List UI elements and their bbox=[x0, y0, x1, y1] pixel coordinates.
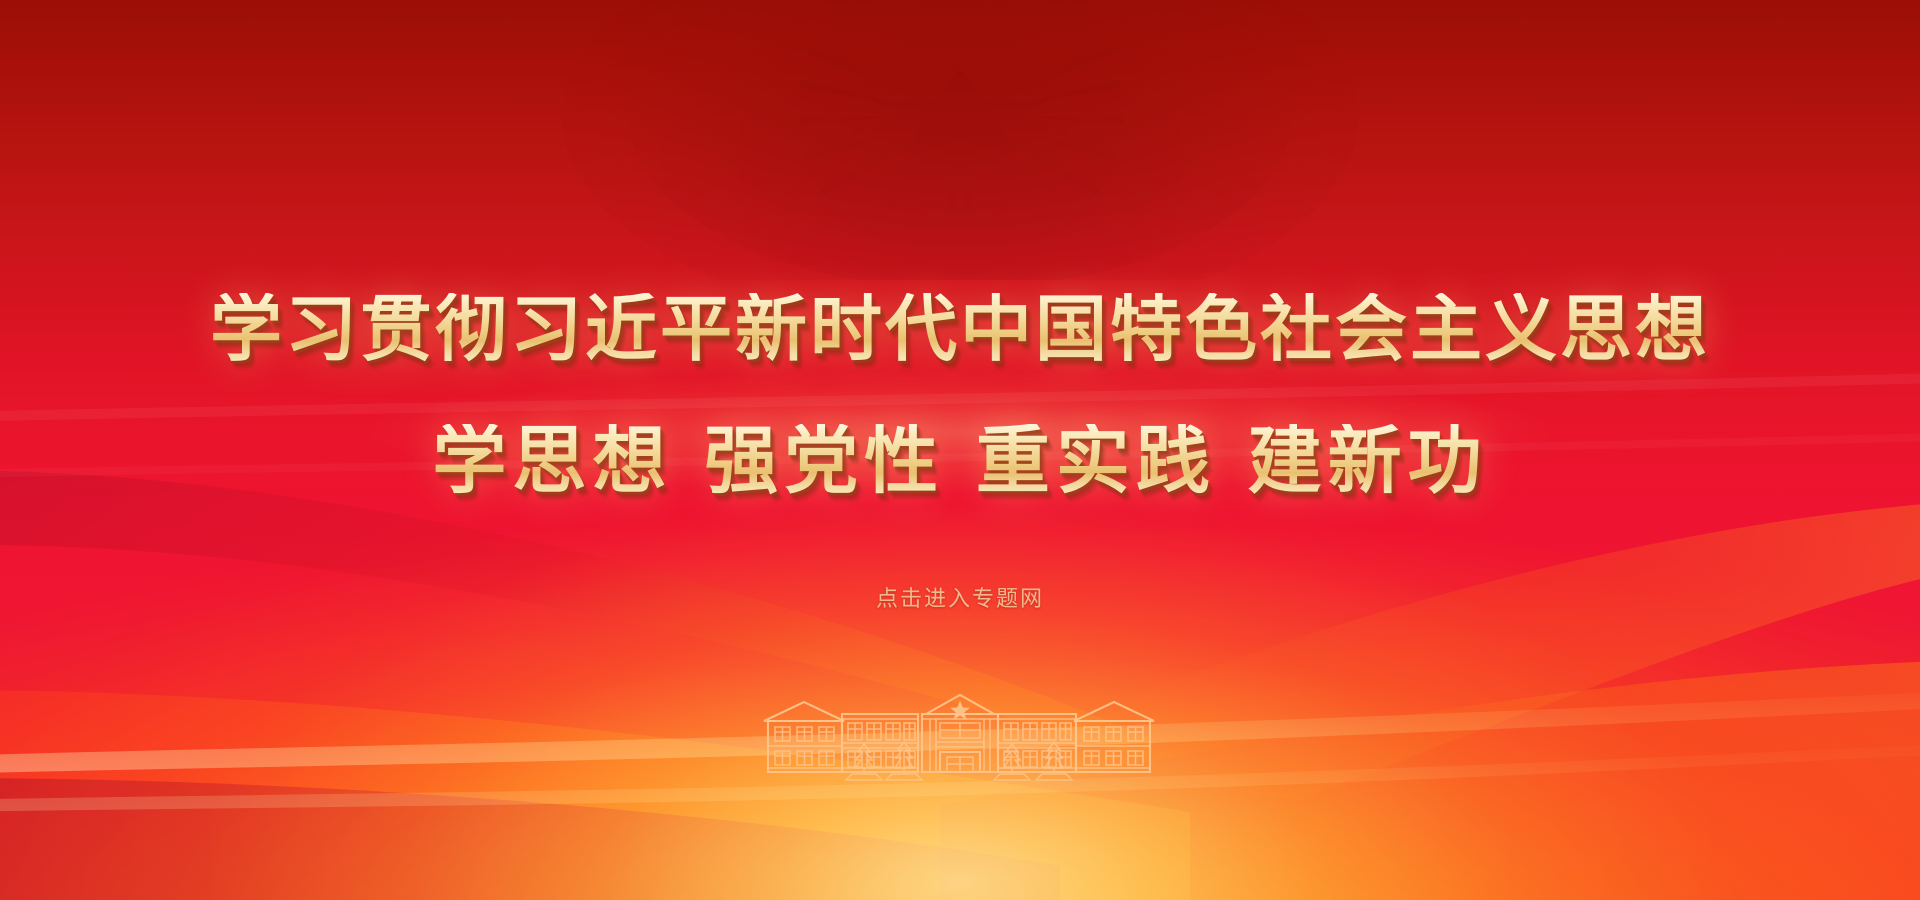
headline-secondary: 学思想 强党性 重实践 建新功 bbox=[432, 424, 1487, 498]
banner-content: 学习贯彻习近平新时代中国特色社会主义思想 学思想 强党性 重实践 建新功 点击进… bbox=[0, 0, 1920, 900]
enter-topic-site-link[interactable]: 点击进入专题网 bbox=[876, 581, 1044, 613]
theme-banner: 学习贯彻习近平新时代中国特色社会主义思想 学思想 强党性 重实践 建新功 点击进… bbox=[0, 0, 1920, 900]
headline-primary: 学习贯彻习近平新时代中国特色社会主义思想 bbox=[210, 293, 1710, 365]
